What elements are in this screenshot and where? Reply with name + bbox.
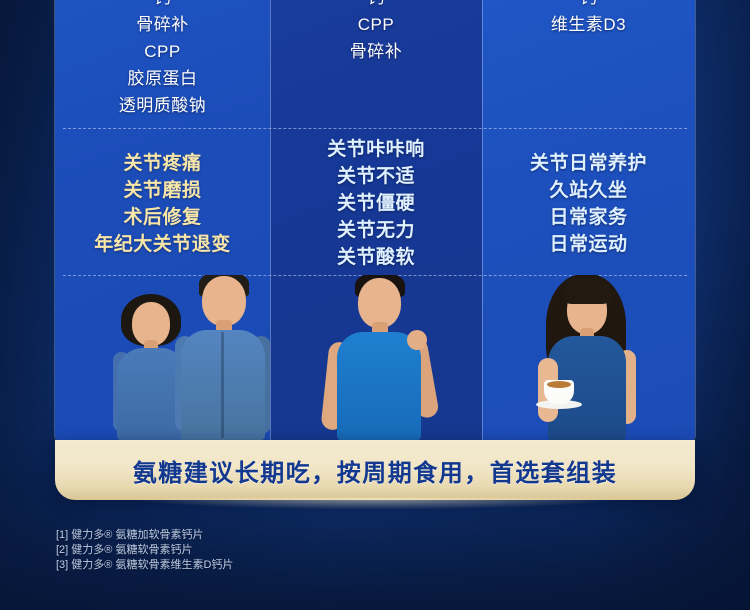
senior-couple-photo [55,275,270,440]
footnote-item: [2] 健力多® 氨糖软骨素钙片 [56,543,476,558]
fist-shape [407,330,427,350]
young-woman-figure [534,275,638,440]
benefits-list-2: 关节咔咔响 关节不适 关节僵硬 关节无力 关节酸软 [270,136,482,271]
senior-man-figure [175,275,270,440]
woman-with-cup-photo [482,275,695,440]
ingredients-list-3: 钙 维生素D3 [482,0,695,38]
torso-shape [337,332,421,440]
ingredients-list-2: 钙 CPP 骨碎补 [270,0,482,65]
face-icon [358,278,401,328]
running-man-figure [325,275,433,440]
shirt-placket-shape [221,332,224,438]
footnote-item: [3] 健力多® 氨糖软骨素维生素D钙片 [56,558,476,573]
benefits-list-3: 关节日常养护 久站久坐 日常家务 日常运动 [482,150,695,258]
beverage-surface [547,381,571,388]
footnote-item: [1] 健力多® 氨糖加软骨素钙片 [56,528,476,543]
promo-banner-text: 氨糖建议长期吃，按周期食用，首选套组装 [133,453,618,488]
product-comparison-card: 钙 骨碎补 CPP 胶原蛋白 透明质酸钠 钙 CPP 骨碎补 钙 维生素D3 关… [55,0,695,440]
face-icon [202,276,246,326]
hair-icon [563,278,611,304]
benefits-list-1: 关节疼痛 关节磨损 术后修复 年纪大关节退变 [55,150,270,258]
promo-banner: 氨糖建议长期吃，按周期食用，首选套组装 [55,440,695,500]
ingredients-list-1: 钙 骨碎补 CPP 胶原蛋白 透明质酸钠 [55,0,270,119]
running-man-photo [270,275,482,440]
footnote-list: [1] 健力多® 氨糖加软骨素钙片 [2] 健力多® 氨糖软骨素钙片 [3] 健… [56,528,476,573]
row-divider-1 [63,128,687,129]
